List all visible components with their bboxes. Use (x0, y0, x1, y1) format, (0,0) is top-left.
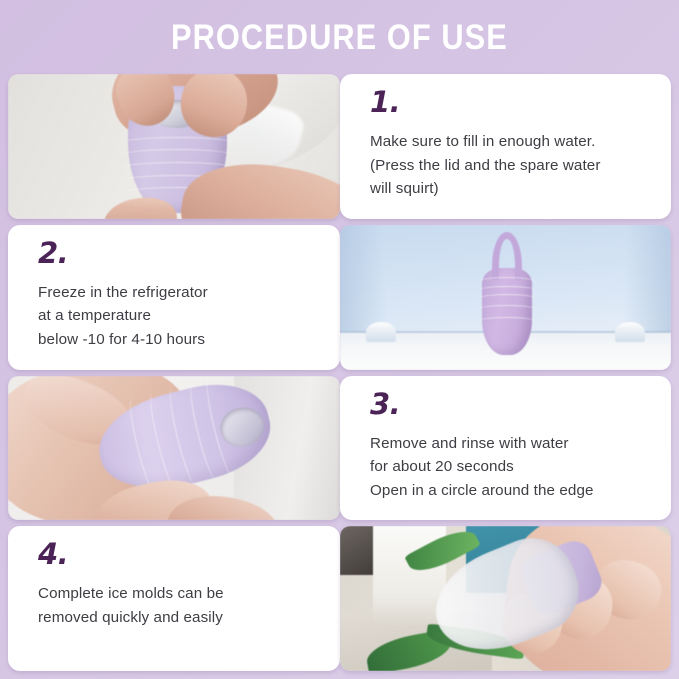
step-1-photo (8, 74, 340, 219)
window-frame (340, 526, 373, 575)
step-3-photo (8, 376, 340, 521)
infographic-page: PROCEDURE OF USE (0, 0, 679, 679)
step-1-card: 1. Make sure to fill in enough water. (P… (340, 74, 671, 219)
step-number: 3. (370, 390, 651, 419)
step-4-photo (340, 526, 671, 671)
step-4-card: 4. Complete ice molds can be removed qui… (8, 526, 340, 671)
step-description: Make sure to fill in enough water. (Pres… (370, 130, 651, 201)
photo-finished-ice-mold (340, 526, 671, 671)
step-number: 2. (38, 239, 320, 268)
shelf-bracket-left (366, 322, 396, 342)
page-title: PROCEDURE OF USE (171, 20, 508, 55)
photo-rinsing-mold (8, 74, 340, 219)
silicone-mold (482, 268, 532, 355)
step-description: Freeze in the refrigerator at a temperat… (38, 281, 320, 352)
photo-hand-holding-mold (8, 376, 340, 521)
step-3-card: 3. Remove and rinse with water for about… (340, 376, 671, 521)
step-number: 1. (370, 88, 651, 117)
step-description: Remove and rinse with water for about 20… (370, 432, 651, 503)
page-header: PROCEDURE OF USE (0, 0, 679, 74)
step-2-card: 2. Freeze in the refrigerator at a tempe… (8, 225, 340, 370)
step-2-photo (340, 225, 671, 370)
step-number: 4. (38, 540, 320, 569)
step-description: Complete ice molds can be removed quickl… (38, 582, 320, 629)
steps-grid: 1. Make sure to fill in enough water. (P… (8, 74, 671, 671)
photo-freezer (340, 225, 671, 370)
shelf-bracket-right (615, 322, 645, 342)
